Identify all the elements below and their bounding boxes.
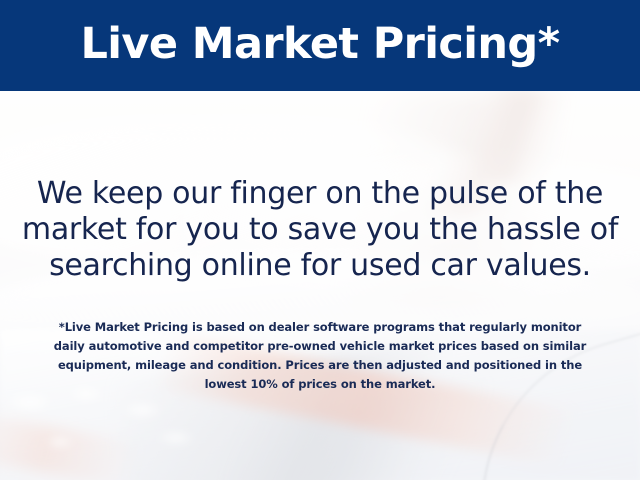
live-market-pricing-slide: Live Market Pricing* We keep our finger …: [0, 0, 640, 480]
header-banner: Live Market Pricing*: [0, 0, 640, 91]
headline-line-3: searching online for used car values.: [20, 248, 620, 284]
background-reflection-specks: [0, 380, 220, 480]
background-orange-accent: [0, 412, 153, 480]
disclaimer-line-2: daily automotive and competitor pre-owne…: [32, 337, 608, 356]
disclaimer-line-3: equipment, mileage and condition. Prices…: [32, 356, 608, 375]
disclaimer-text: *Live Market Pricing is based on dealer …: [32, 318, 608, 394]
headline-line-2: market for you to save you the hassle of: [20, 212, 620, 248]
disclaimer-line-1: *Live Market Pricing is based on dealer …: [32, 318, 608, 337]
background-tan-streak: [420, 92, 640, 182]
disclaimer-line-4: lowest 10% of prices on the market.: [32, 375, 608, 394]
page-title: Live Market Pricing*: [80, 23, 559, 69]
headline: We keep our finger on the pulse of the m…: [20, 176, 620, 284]
headline-line-1: We keep our finger on the pulse of the: [20, 176, 620, 212]
